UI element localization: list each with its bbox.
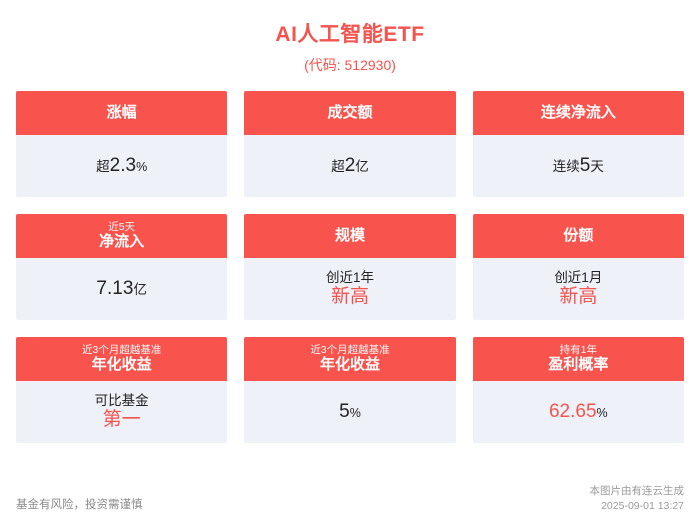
metric-card: 涨幅超2.3% <box>16 91 227 197</box>
metric-value-segment: 亿 <box>355 159 369 175</box>
metric-value-segment: 超 <box>331 159 345 175</box>
metric-value-line: 超2亿 <box>331 155 369 178</box>
metric-card-body: 创近1月新高 <box>473 258 684 320</box>
metric-card-body: 7.13亿 <box>16 258 227 320</box>
metric-card: 规模创近1年新高 <box>244 214 455 320</box>
metric-card: 连续净流入连续5天 <box>473 91 684 197</box>
page-title: AI人工智能ETF <box>16 0 684 48</box>
metric-value-segment: 2.3 <box>110 155 136 178</box>
metric-card-body: 可比基金第一 <box>16 381 227 443</box>
metric-value-line: 可比基金 <box>95 393 149 409</box>
metric-card-subtitle: 近3个月超越基准 <box>82 344 161 356</box>
metric-value-segment: 可比基金 <box>95 393 149 409</box>
metric-value-line: 5% <box>339 401 361 424</box>
metric-value-line: 超2.3% <box>96 155 147 178</box>
metric-card: 持有1年盈利概率62.65% <box>473 337 684 443</box>
metric-value-line: 创近1月 <box>554 270 602 286</box>
page-subtitle: (代码: 512930) <box>16 48 684 75</box>
metric-card-body: 连续5天 <box>473 135 684 197</box>
metric-value-line: 连续5天 <box>553 155 604 178</box>
metric-card-body: 超2亿 <box>244 135 455 197</box>
metric-value-line: 第一 <box>103 409 141 432</box>
metric-card-title: 年化收益 <box>320 356 380 373</box>
metric-value-segment: 创近1月 <box>554 270 602 286</box>
metric-value-segment: 亿 <box>133 282 147 298</box>
metric-value-segment: 2 <box>345 155 356 178</box>
metric-value-segment: % <box>597 406 608 421</box>
etf-info-card: AI人工智能ETF (代码: 512930) 涨幅超2.3%成交额超2亿连续净流… <box>0 0 700 524</box>
metric-card-title: 涨幅 <box>107 104 137 121</box>
metric-card-subtitle: 近5天 <box>108 221 135 233</box>
metric-card-body: 超2.3% <box>16 135 227 197</box>
metric-value-segment: 天 <box>590 159 604 175</box>
timestamp-text: 2025-09-01 13:27 <box>590 499 685 514</box>
metric-value-segment: % <box>136 160 147 175</box>
metric-card: 成交额超2亿 <box>244 91 455 197</box>
metric-value-line: 7.13亿 <box>96 278 146 301</box>
metric-card-title: 净流入 <box>99 233 144 250</box>
metric-card: 份额创近1月新高 <box>473 214 684 320</box>
metric-value-segment: 第一 <box>103 409 141 432</box>
metric-value-segment: 创近1年 <box>326 270 374 286</box>
metric-value-line: 新高 <box>559 286 597 309</box>
metric-value-line: 新高 <box>331 286 369 309</box>
metric-card-body: 5% <box>244 381 455 443</box>
metric-card-title: 规模 <box>335 227 365 244</box>
metric-card-subtitle: 近3个月超越基准 <box>310 344 389 356</box>
metric-card-header: 近3个月超越基准年化收益 <box>16 337 227 381</box>
metric-value-segment: 新高 <box>331 286 369 309</box>
metric-value-segment: 连续 <box>553 159 580 175</box>
metric-card-title: 连续净流入 <box>541 104 616 121</box>
source-info: 本图片由有连云生成 2025-09-01 13:27 <box>590 484 685 514</box>
metric-card-header: 涨幅 <box>16 91 227 135</box>
metric-value-segment: % <box>350 406 361 421</box>
metric-card-header: 连续净流入 <box>473 91 684 135</box>
metric-card-header: 近5天净流入 <box>16 214 227 258</box>
metric-value-segment: 5 <box>580 155 591 178</box>
metric-value-line: 62.65% <box>549 401 608 424</box>
metric-card-title: 盈利概率 <box>548 356 608 373</box>
metric-grid: 涨幅超2.3%成交额超2亿连续净流入连续5天近5天净流入7.13亿规模创近1年新… <box>16 91 684 443</box>
metric-card-header: 份额 <box>473 214 684 258</box>
metric-card-subtitle: 持有1年 <box>560 344 597 356</box>
metric-value-segment: 62.65 <box>549 401 597 424</box>
metric-card-header: 成交额 <box>244 91 455 135</box>
metric-value-line: 创近1年 <box>326 270 374 286</box>
metric-value-segment: 新高 <box>559 286 597 309</box>
metric-card-body: 62.65% <box>473 381 684 443</box>
metric-card-header: 近3个月超越基准年化收益 <box>244 337 455 381</box>
metric-card-title: 份额 <box>563 227 593 244</box>
metric-value-segment: 5 <box>339 401 350 424</box>
metric-card-header: 持有1年盈利概率 <box>473 337 684 381</box>
metric-card-header: 规模 <box>244 214 455 258</box>
metric-card: 近3个月超越基准年化收益5% <box>244 337 455 443</box>
metric-card: 近5天净流入7.13亿 <box>16 214 227 320</box>
metric-card: 近3个月超越基准年化收益可比基金第一 <box>16 337 227 443</box>
metric-value-segment: 7.13 <box>96 278 133 301</box>
metric-value-segment: 超 <box>96 159 110 175</box>
metric-card-body: 创近1年新高 <box>244 258 455 320</box>
source-text: 本图片由有连云生成 <box>590 484 685 499</box>
disclaimer-text: 基金有风险，投资需谨慎 <box>16 496 143 512</box>
metric-card-title: 年化收益 <box>92 356 152 373</box>
metric-card-title: 成交额 <box>327 104 372 121</box>
